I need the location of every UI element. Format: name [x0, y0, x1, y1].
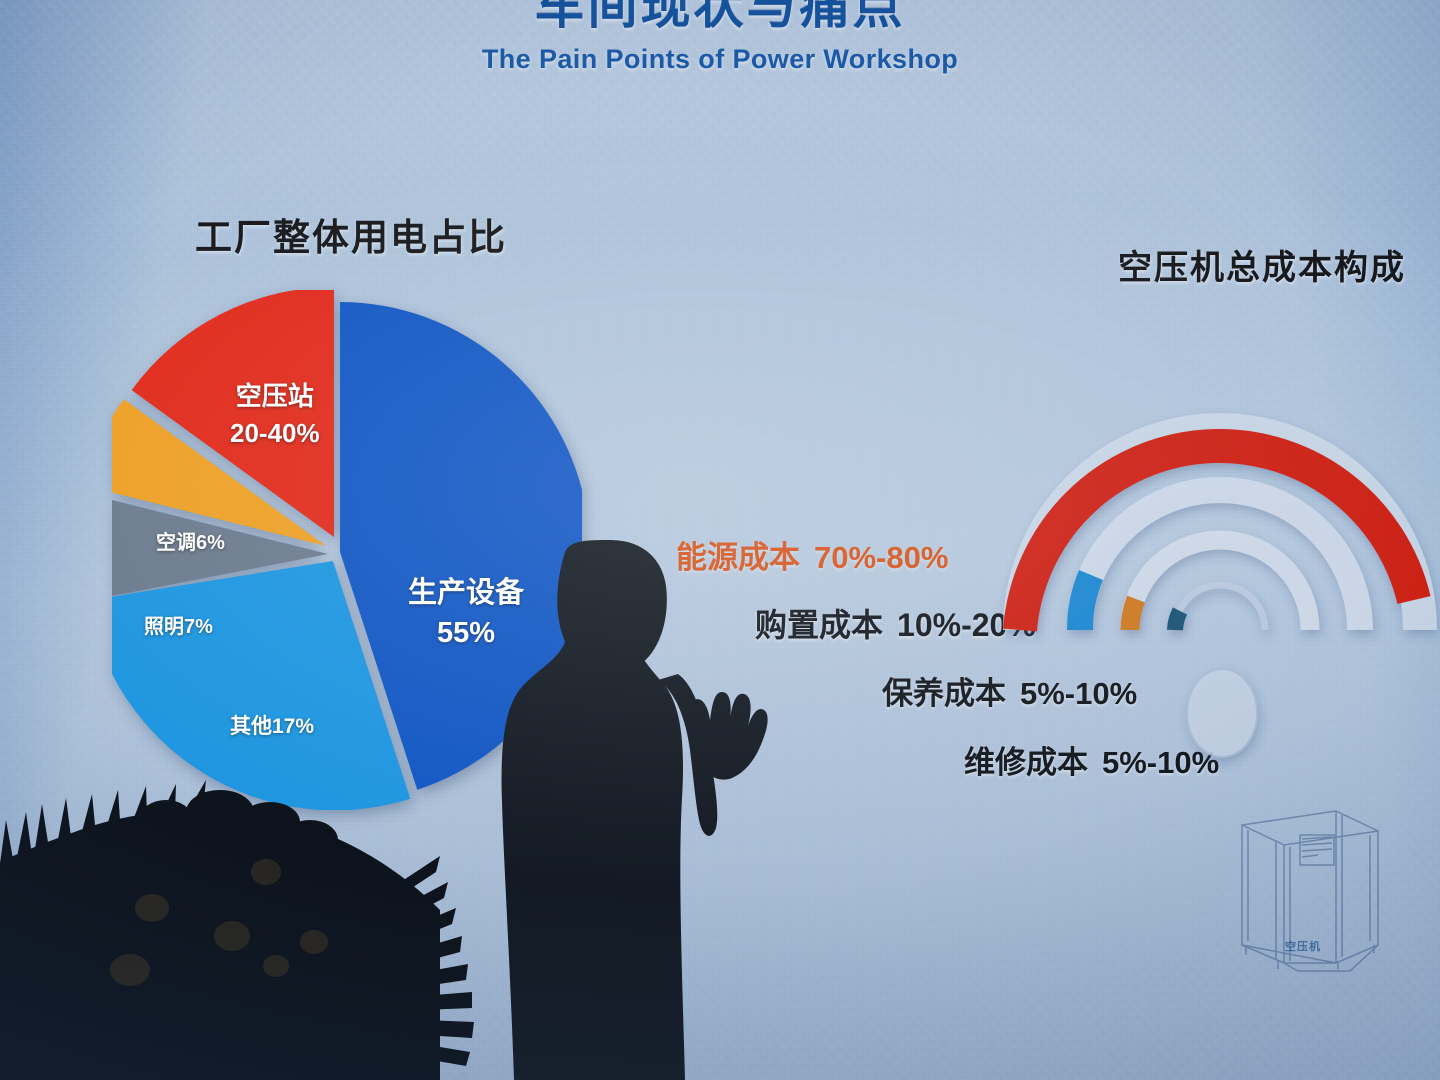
arc-chart-title: 空压机总成本构成	[1118, 240, 1406, 289]
headline-chinese: 车间现状与痛点	[0, 0, 1440, 38]
arc-segment-purchase	[1080, 575, 1091, 630]
arc-svg	[990, 330, 1440, 800]
compressor-icon-label: 空压机	[1248, 938, 1358, 954]
arc-segment-repair	[1175, 611, 1180, 630]
arc-track-second	[1080, 490, 1360, 630]
arc-segment-maintenance	[1130, 599, 1136, 630]
foreground-flower-arrangement	[0, 760, 500, 1080]
cost-name-maintenance: 保养成本	[882, 676, 1006, 711]
arc-center-dot	[1187, 669, 1257, 757]
arc-track-inner	[1175, 585, 1265, 630]
pie-chart-title: 工厂整体用电占比	[195, 207, 507, 261]
cost-structure-arc-chart	[990, 330, 1440, 800]
slide-headline: 车间现状与痛点 The Pain Points of Power Worksho…	[0, 0, 1440, 75]
headline-english: The Pain Points of Power Workshop	[0, 44, 1440, 75]
presentation-photo: 车间现状与痛点 The Pain Points of Power Worksho…	[0, 0, 1440, 1080]
cost-value-energy: 70%-80%	[814, 540, 948, 575]
presenter-silhouette	[470, 540, 800, 1080]
